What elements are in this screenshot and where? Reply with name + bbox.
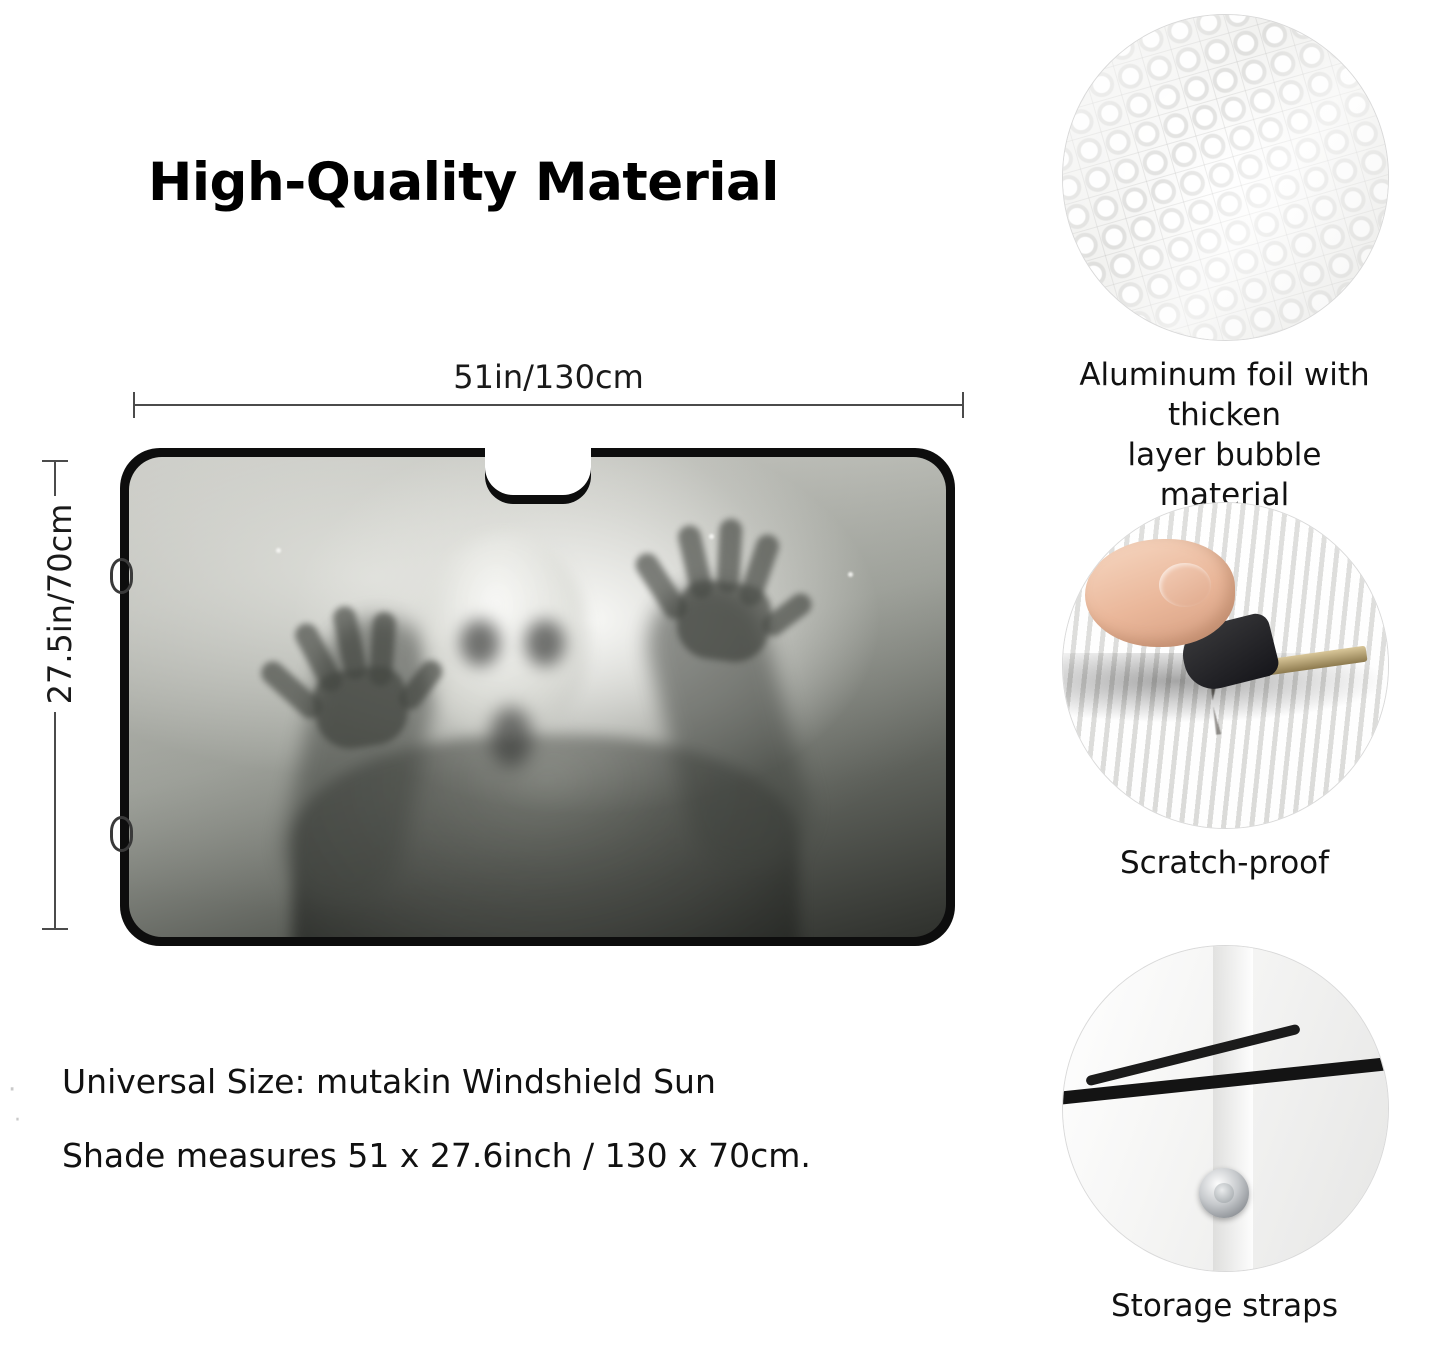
product-image-sunshade — [120, 448, 955, 946]
feature-image-scratch-proof — [1062, 502, 1389, 829]
width-dimension-line — [133, 404, 964, 406]
width-dimension-value: 51in/130cm — [443, 358, 654, 396]
watermark-mark-1: · — [8, 1075, 16, 1105]
feature-label-scratch-proof: Scratch-proof — [1062, 843, 1387, 883]
feature-label-line-1: Scratch-proof — [1062, 843, 1387, 883]
feature-label-line-1: Aluminum foil with thicken — [1062, 355, 1387, 435]
product-info-panel: High-Quality Material 51in/130cm 27.5in/… — [0, 0, 1000, 1358]
feature-label-line-1: Storage straps — [1062, 1286, 1387, 1326]
feature-storage-straps: Storage straps — [1062, 945, 1387, 1326]
feature-callouts-panel: Aluminum foil with thicken layer bubble … — [1000, 0, 1441, 1358]
caption-line-2: Shade measures 51 x 27.6inch / 130 x 70c… — [62, 1119, 1022, 1193]
sunshade-clip-top — [110, 558, 133, 594]
thumb-nail — [1159, 563, 1211, 607]
page-title: High-Quality Material — [148, 152, 779, 213]
finger — [736, 531, 782, 608]
finger — [716, 518, 743, 593]
sunshade-border — [120, 448, 955, 946]
width-dimension-label: 51in/130cm — [133, 358, 964, 396]
ghost-hand-left — [283, 592, 433, 749]
sunshade-mirror-notch — [485, 438, 591, 504]
sunshade-printed-graphic — [129, 457, 946, 937]
watermark-mark-2: · — [14, 1108, 21, 1133]
feature-label-storage-straps: Storage straps — [1062, 1286, 1387, 1326]
feature-bubble-foil: Aluminum foil with thicken layer bubble … — [1062, 14, 1387, 515]
caption-line-1: Universal Size: mutakin Windshield Sun — [62, 1045, 1022, 1119]
height-dimension-value: 27.5in/70cm — [41, 496, 79, 713]
feature-label-bubble-foil: Aluminum foil with thicken layer bubble … — [1062, 355, 1387, 515]
speck — [709, 534, 714, 539]
product-size-caption: Universal Size: mutakin Windshield Sun S… — [62, 1045, 1022, 1193]
feature-image-bubble-foil — [1062, 14, 1389, 341]
feature-image-storage-straps — [1062, 945, 1389, 1272]
ghost-hand-right — [656, 507, 804, 662]
ghost-mouth — [490, 707, 532, 767]
snap-button — [1199, 1168, 1249, 1218]
ghost-figure-graphic — [129, 457, 946, 937]
sunshade-clip-bottom — [110, 816, 133, 852]
fabric-fold — [1213, 946, 1253, 1271]
height-dimension-label: 27.5in/70cm — [41, 404, 79, 804]
foil-sheen — [1063, 15, 1388, 340]
ghost-eye-left — [460, 620, 500, 666]
feature-scratch-proof: Scratch-proof — [1062, 502, 1387, 883]
